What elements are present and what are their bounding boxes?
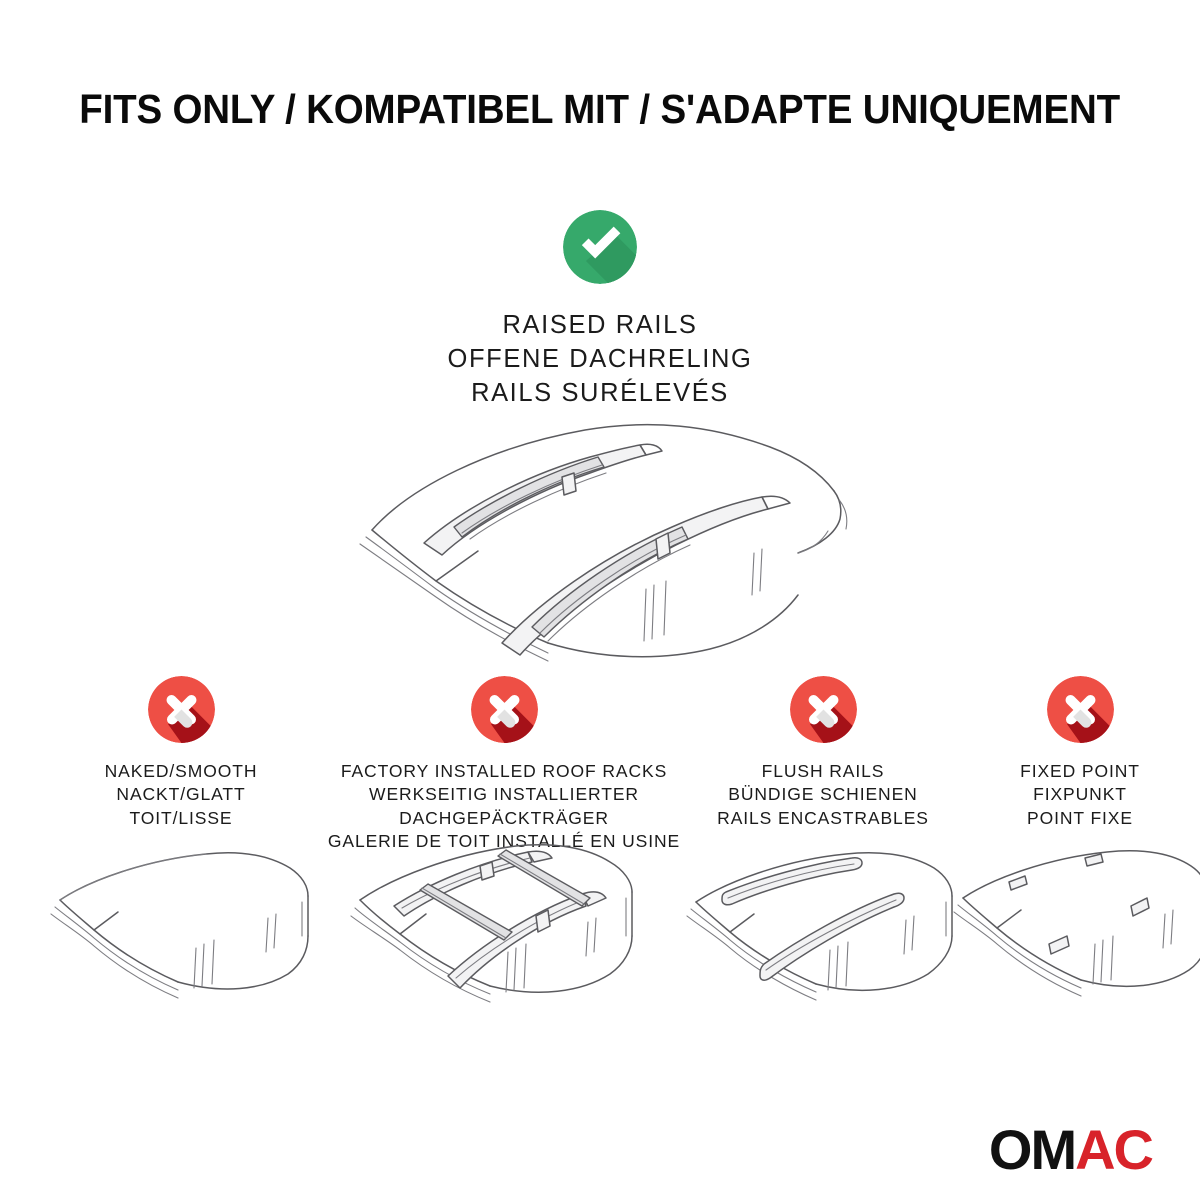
label-naked-smooth-fr: TOIT/LISSE	[42, 807, 320, 830]
x-circle-icon	[471, 676, 538, 743]
car-roof-fixed-point-illustration	[949, 840, 1200, 1020]
car-roof-factory-roof-rack-illustration	[344, 828, 664, 1028]
does-not-fit-item-naked-smooth: NAKED/SMOOTH NACKT/GLATT TOIT/LISSE	[42, 676, 320, 830]
fits-label-de: OFFENE DACHRELING	[0, 343, 1200, 377]
page-title: FITS ONLY / KOMPATIBEL MIT / S'ADAPTE UN…	[0, 86, 1200, 133]
label-fixed-point-de: FIXPUNKT	[960, 783, 1200, 806]
omac-logo-part1: OM	[989, 1118, 1075, 1181]
omac-logo: OMAC	[989, 1122, 1152, 1178]
label-naked-smooth-en: NAKED/SMOOTH	[42, 760, 320, 783]
page-title-text: FITS ONLY / KOMPATIBEL MIT / S'ADAPTE UN…	[80, 86, 1121, 133]
car-roof-flush-rails-illustration	[678, 840, 968, 1020]
does-not-fit-item-factory-roof-rack: FACTORY INSTALLED ROOF RACKS WERKSEITIG …	[314, 676, 694, 853]
does-not-fit-item-flush-rails: FLUSH RAILS BÜNDIGE SCHIENEN RAILS ENCAS…	[688, 676, 958, 830]
label-naked-smooth-de: NACKT/GLATT	[42, 783, 320, 806]
label-group-fixed-point: FIXED POINT FIXPUNKT POINT FIXE	[960, 760, 1200, 830]
omac-logo-part2: AC	[1075, 1118, 1152, 1181]
fits-section: RAISED RAILS OFFENE DACHRELING RAILS SUR…	[0, 210, 1200, 411]
car-roof-naked-smooth-illustration	[46, 840, 316, 1020]
label-factory-rack-en: FACTORY INSTALLED ROOF RACKS	[314, 760, 694, 783]
label-flush-rails-fr: RAILS ENCASTRABLES	[688, 807, 958, 830]
fits-label-group: RAISED RAILS OFFENE DACHRELING RAILS SUR…	[0, 309, 1200, 411]
x-circle-icon	[1047, 676, 1114, 743]
does-not-fit-item-fixed-point: FIXED POINT FIXPUNKT POINT FIXE	[960, 676, 1200, 830]
x-circle-icon	[148, 676, 215, 743]
label-fixed-point-en: FIXED POINT	[960, 760, 1200, 783]
label-fixed-point-fr: POINT FIXE	[960, 807, 1200, 830]
check-circle-icon	[563, 210, 637, 284]
label-flush-rails-en: FLUSH RAILS	[688, 760, 958, 783]
label-factory-rack-de-1: WERKSEITIG INSTALLIERTER	[314, 783, 694, 806]
label-factory-rack-de-2: DACHGEPÄCKTRÄGER	[314, 807, 694, 830]
car-roof-with-raised-rails-illustration	[350, 405, 850, 670]
label-flush-rails-de: BÜNDIGE SCHIENEN	[688, 783, 958, 806]
label-group-naked-smooth: NAKED/SMOOTH NACKT/GLATT TOIT/LISSE	[42, 760, 320, 830]
x-circle-icon	[790, 676, 857, 743]
fits-label-en: RAISED RAILS	[0, 309, 1200, 343]
label-group-flush-rails: FLUSH RAILS BÜNDIGE SCHIENEN RAILS ENCAS…	[688, 760, 958, 830]
